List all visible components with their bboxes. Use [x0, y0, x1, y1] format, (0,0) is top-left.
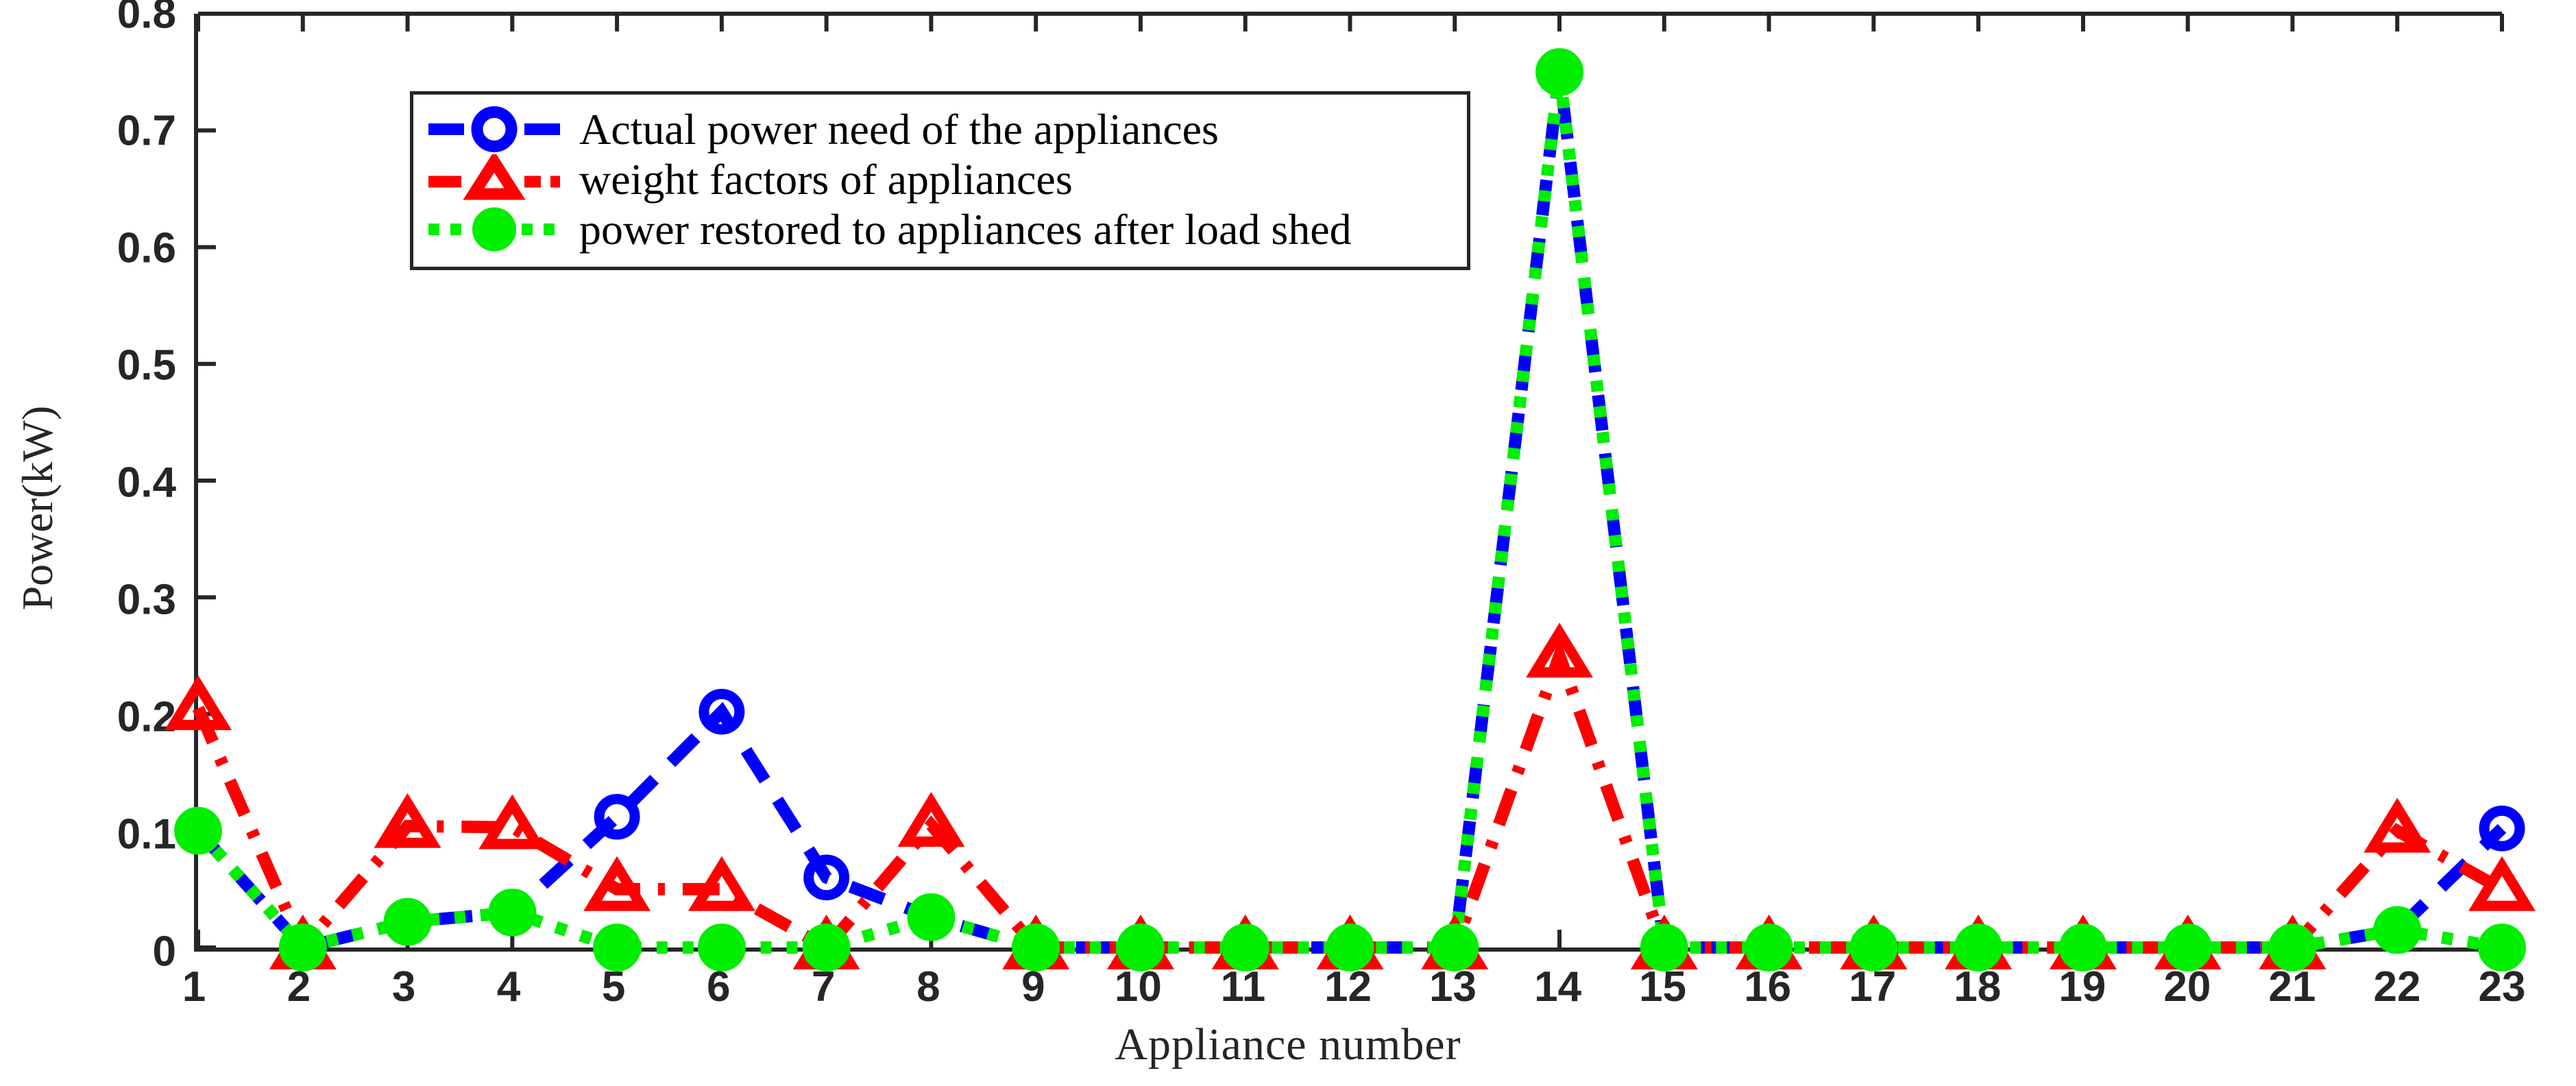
x-tick-label: 13 [1429, 963, 1477, 1011]
x-tick-label: 15 [1639, 963, 1686, 1011]
y-tick-label: 0.1 [0, 810, 176, 859]
y-tick-label: 0.8 [0, 0, 176, 38]
x-tick-label: 18 [1954, 963, 2001, 1011]
x-axis-title: Appliance number [0, 1019, 2576, 1071]
y-tick-label: 0.2 [0, 693, 176, 742]
plot-area: Actual power need of the appliances weig… [194, 14, 2502, 952]
figure: 00.10.20.30.40.50.60.70.8 Power(kW) Actu… [0, 0, 2576, 1086]
data-point-marker [389, 903, 427, 941]
data-point-marker [493, 893, 531, 932]
x-tick-label: 21 [2268, 963, 2316, 1011]
y-tick-label: 0 [0, 928, 176, 976]
data-point-marker [1854, 928, 1893, 967]
data-point-marker [697, 866, 746, 906]
x-tick-label: 20 [2163, 963, 2211, 1011]
data-point-marker [1121, 928, 1160, 967]
x-tick-label: 7 [812, 963, 835, 1011]
series-line [198, 655, 2502, 948]
x-tick-label: 2 [287, 963, 311, 1011]
x-tick-label: 23 [2479, 963, 2526, 1011]
data-point-marker [2378, 911, 2416, 950]
legend-sample-weight-factors [426, 154, 563, 204]
data-point-marker [1645, 928, 1684, 967]
data-point-marker [1750, 928, 1788, 967]
x-tick-label: 8 [916, 963, 940, 1011]
data-point-marker [488, 804, 537, 844]
x-tick-label: 3 [392, 963, 415, 1011]
x-tick-label: 5 [602, 963, 625, 1011]
data-point-marker [1435, 928, 1474, 967]
legend-label: Actual power need of the appliances [579, 108, 1219, 152]
x-tick-label: 12 [1324, 963, 1372, 1011]
legend-label: weight factors of appliances [579, 158, 1073, 202]
legend-item[interactable]: power restored to appliances after load … [426, 204, 1455, 254]
data-point-marker [1226, 928, 1265, 967]
x-tick-label: 16 [1744, 963, 1791, 1011]
data-point-marker [912, 898, 950, 937]
legend-sample-power-restored [426, 204, 563, 254]
data-point-marker [703, 928, 741, 967]
data-point-marker [807, 928, 846, 967]
legend-item[interactable]: Actual power need of the appliances [426, 104, 1455, 154]
y-tick-label: 0.7 [0, 107, 176, 156]
x-tick-label: 22 [2373, 963, 2420, 1011]
x-tick-label: 11 [1221, 963, 1266, 1011]
x-tick-label: 1 [182, 963, 206, 1011]
legend-item[interactable]: weight factors of appliances [426, 154, 1455, 204]
x-tick-label: 9 [1021, 963, 1045, 1011]
legend-sample-actual-power [426, 104, 563, 154]
data-point-marker [179, 812, 217, 850]
data-point-marker [2483, 928, 2521, 967]
data-point-marker [2169, 928, 2207, 967]
x-tick-label: 19 [2058, 963, 2106, 1011]
x-tick-label: 4 [497, 963, 520, 1011]
x-tick-label: 14 [1534, 963, 1581, 1011]
y-axis-title: Power(kW) [12, 330, 63, 686]
data-point-marker [598, 928, 636, 967]
data-point-marker [1331, 928, 1370, 967]
x-tick-label: 6 [707, 963, 730, 1011]
data-point-marker [2274, 928, 2312, 967]
data-point-marker [1959, 928, 1997, 967]
data-point-marker [2064, 928, 2102, 967]
data-point-marker [2477, 866, 2526, 906]
data-point-marker [1540, 53, 1579, 91]
legend-label: power restored to appliances after load … [579, 208, 1352, 252]
data-point-marker [1017, 928, 1055, 967]
data-point-marker [284, 928, 322, 967]
x-tick-label: 10 [1115, 963, 1162, 1011]
legend: Actual power need of the appliances weig… [410, 91, 1470, 270]
data-point-marker [599, 799, 635, 834]
y-tick-label: 0.6 [0, 224, 176, 273]
x-tick-label: 17 [1849, 963, 1896, 1011]
